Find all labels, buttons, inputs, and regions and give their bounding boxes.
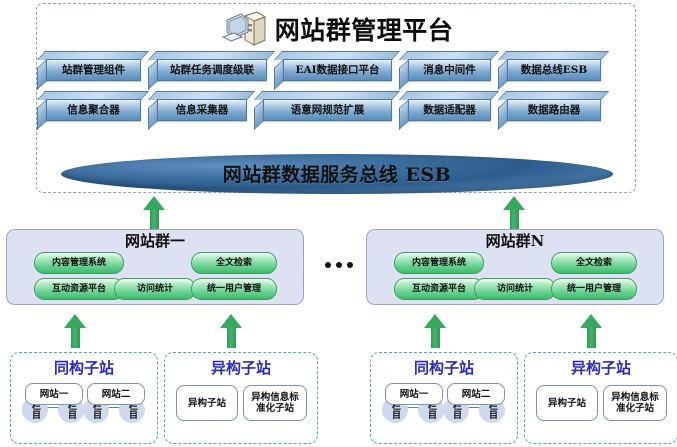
- component-label: 消息中间件: [423, 65, 476, 76]
- subsite-title: 异构子站: [165, 359, 317, 377]
- platform-component-1[interactable]: 站群管理组件: [37, 51, 141, 81]
- diagram-canvas: 网站群管理平台 站群管理组件站群任务调度级联EAI数据接口平台消息中间件数据总线…: [0, 0, 677, 447]
- site-card[interactable]: 网站二: [447, 383, 505, 405]
- ellipsis-dot: [336, 262, 342, 268]
- arrow-subsite3-to-groupn: [424, 314, 446, 348]
- site-card[interactable]: 异构信息标准化子站: [243, 385, 307, 421]
- subsite-title: 异构子站: [525, 359, 677, 377]
- subsite-panel-homogeneous-2: 同构子站 网站一 网站二 栏目 栏目 栏目 栏目: [370, 352, 518, 444]
- component-label: 数据路由器: [528, 105, 581, 116]
- subsite-title: 同构子站: [11, 359, 157, 377]
- component-label: 数据适配器: [423, 105, 476, 116]
- box-front-face: 信息聚合器: [46, 99, 141, 121]
- box-front-face: 语意网规范扩展: [263, 99, 392, 121]
- module-content-management[interactable]: 内容管理系统: [394, 252, 484, 274]
- subsite-panel-homogeneous-1: 同构子站 网站一 网站二 栏目 栏目 栏目 栏目: [10, 352, 158, 444]
- platform-component-5[interactable]: 数据总线ESB: [498, 51, 601, 81]
- module-visit-statistics[interactable]: 访问统计: [114, 278, 196, 300]
- module-visit-statistics[interactable]: 访问统计: [474, 278, 556, 300]
- platform-component-1[interactable]: 信息聚合器: [37, 91, 141, 121]
- arrow-subsite2-to-group1: [220, 314, 242, 348]
- module-content-management[interactable]: 内容管理系统: [34, 252, 124, 274]
- platform-component-3[interactable]: 语意网规范扩展: [254, 91, 392, 121]
- site-card[interactable]: 网站二: [87, 383, 145, 405]
- box-front-face: 信息采集器: [157, 99, 247, 121]
- box-front-face: EAI数据接口平台: [283, 59, 392, 81]
- module-full-text-search[interactable]: 全文检索: [191, 252, 277, 274]
- component-label: EAI数据接口平台: [295, 65, 379, 76]
- website-group-panel-1: 网站群一 内容管理系统 全文检索 互动资源平台 访问统计 统一用户管理: [6, 229, 304, 305]
- esb-label: 网站群数据服务总线 ESB: [223, 160, 451, 187]
- site-card[interactable]: 网站一: [25, 383, 83, 405]
- module-unified-user-management[interactable]: 统一用户管理: [551, 278, 637, 300]
- subsite-panel-heterogeneous-2: 异构子站 异构子站 异构信息标准化子站: [524, 352, 677, 444]
- website-group-panel-n: 网站群N 内容管理系统 全文检索 互动资源平台 访问统计 统一用户管理: [366, 229, 664, 305]
- platform-panel: 网站群管理平台 站群管理组件站群任务调度级联EAI数据接口平台消息中间件数据总线…: [36, 3, 636, 193]
- component-label: 信息采集器: [176, 105, 229, 116]
- group-title: 网站群一: [7, 232, 303, 250]
- group-ellipsis: [320, 258, 358, 272]
- box-front-face: 消息中间件: [408, 59, 491, 81]
- platform-component-2[interactable]: 信息采集器: [148, 91, 247, 121]
- platform-component-4[interactable]: 消息中间件: [399, 51, 491, 81]
- arrow-group1-to-platform: [143, 196, 165, 230]
- ellipsis-dot: [347, 262, 353, 268]
- box-front-face: 站群管理组件: [46, 59, 141, 81]
- platform-header: 网站群管理平台: [37, 8, 637, 52]
- platform-component-5[interactable]: 数据路由器: [498, 91, 601, 121]
- component-label: 站群管理组件: [62, 65, 125, 76]
- module-full-text-search[interactable]: 全文检索: [551, 252, 637, 274]
- component-label: 信息聚合器: [67, 105, 120, 116]
- box-front-face: 数据路由器: [507, 99, 601, 121]
- arrow-subsite1-to-group1: [64, 314, 86, 348]
- component-label: 语意网规范扩展: [291, 105, 365, 116]
- module-unified-user-management[interactable]: 统一用户管理: [191, 278, 277, 300]
- component-label: 数据总线ESB: [521, 65, 587, 76]
- component-row-2: 信息聚合器信息采集器语意网规范扩展数据适配器数据路由器: [37, 91, 637, 121]
- esb-bus: 网站群数据服务总线 ESB: [61, 154, 613, 194]
- platform-component-4[interactable]: 数据适配器: [399, 91, 491, 121]
- site-card[interactable]: 异构子站: [536, 385, 598, 421]
- platform-component-2[interactable]: 站群任务调度级联: [148, 51, 267, 81]
- box-front-face: 站群任务调度级联: [157, 59, 267, 81]
- arrow-groupN-to-platform: [503, 196, 525, 230]
- site-card[interactable]: 异构信息标准化子站: [603, 385, 667, 421]
- box-front-face: 数据总线ESB: [507, 59, 601, 81]
- arrow-subsite4-to-groupn: [580, 314, 602, 348]
- group-title: 网站群N: [367, 232, 663, 250]
- module-interactive-resource[interactable]: 互动资源平台: [34, 278, 124, 300]
- subsite-panel-heterogeneous-1: 异构子站 异构子站 异构信息标准化子站: [164, 352, 318, 444]
- component-row-1: 站群管理组件站群任务调度级联EAI数据接口平台消息中间件数据总线ESB: [37, 51, 637, 81]
- computer-icon: [221, 10, 267, 50]
- component-label: 站群任务调度级联: [170, 65, 254, 76]
- site-card[interactable]: 异构子站: [176, 385, 238, 421]
- module-interactive-resource[interactable]: 互动资源平台: [394, 278, 484, 300]
- ellipsis-dot: [325, 262, 331, 268]
- platform-title: 网站群管理平台: [275, 18, 454, 43]
- platform-component-3[interactable]: EAI数据接口平台: [274, 51, 392, 81]
- subsite-title: 同构子站: [371, 359, 517, 377]
- box-front-face: 数据适配器: [408, 99, 491, 121]
- site-card[interactable]: 网站一: [385, 383, 443, 405]
